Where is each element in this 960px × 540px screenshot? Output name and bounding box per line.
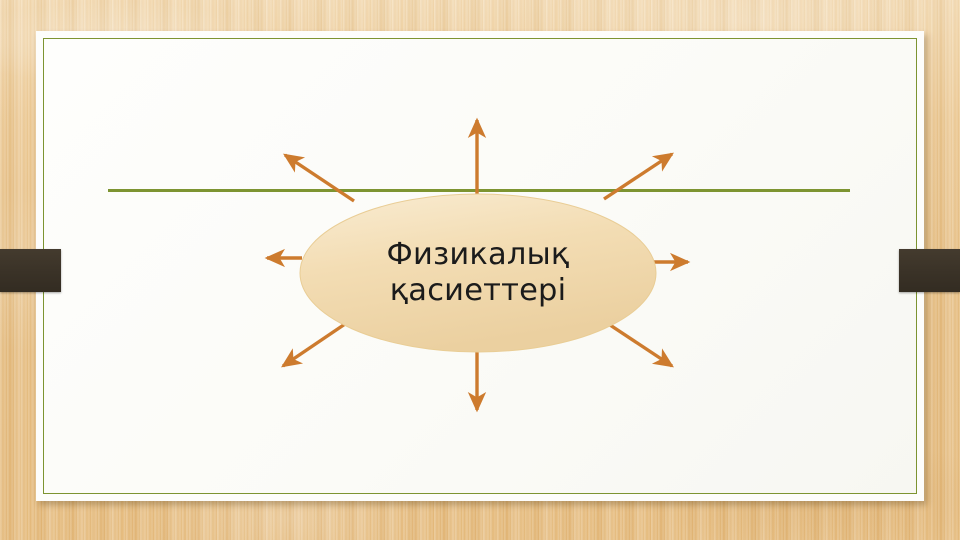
arrow-up-right-line — [604, 154, 672, 199]
arrow-up-left-line — [285, 155, 354, 201]
arrow-down-right-line — [604, 321, 672, 366]
slide-canvas: Физикалық қасиеттері — [0, 0, 960, 540]
arrow-down-left-line — [283, 322, 348, 366]
center-ellipse — [300, 194, 656, 352]
radial-spoke-diagram: Физикалық қасиеттері — [0, 0, 960, 540]
